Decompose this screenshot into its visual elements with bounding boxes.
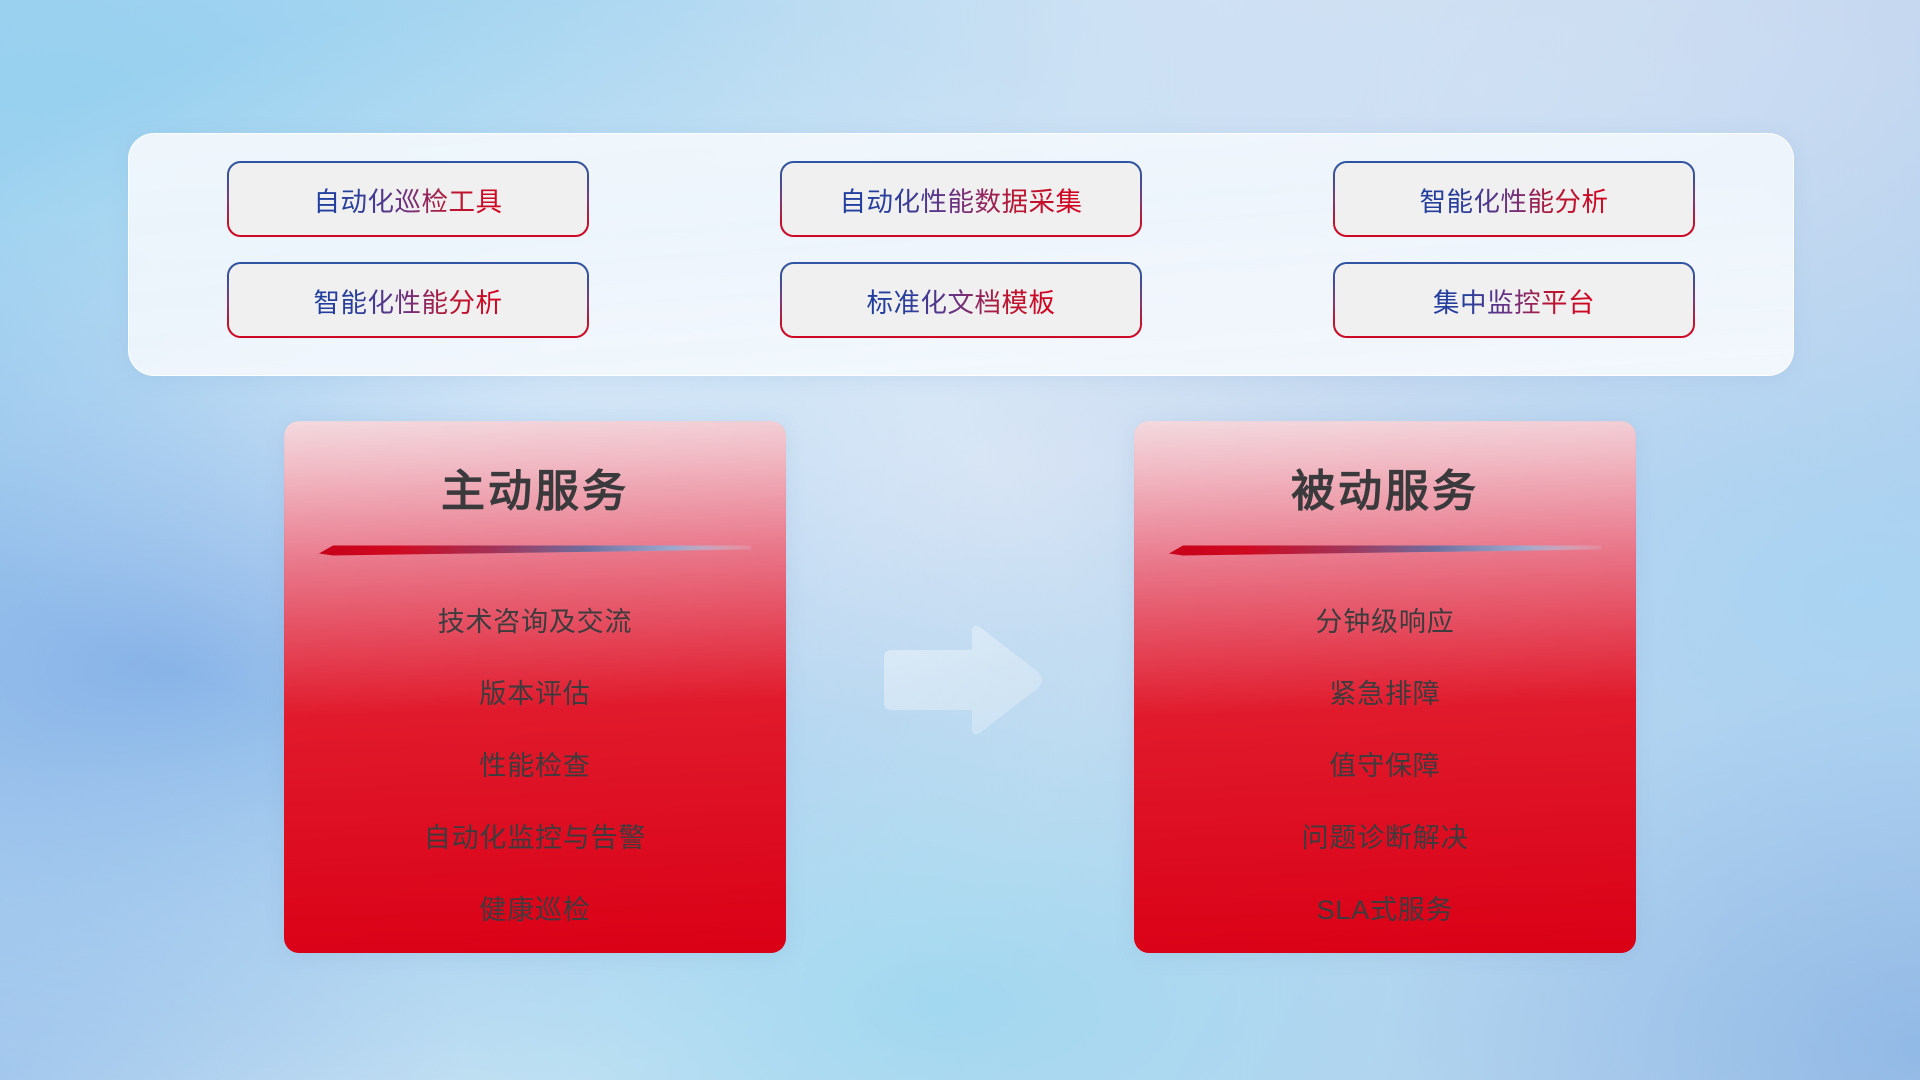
capability-pill-row-1: 自动化巡检工具 自动化性能数据采集 智能化性能分析 — [129, 163, 1793, 235]
service-card-title: 被动服务 — [1135, 455, 1635, 519]
service-item[interactable]: 值守保障 — [1135, 730, 1635, 802]
capability-pill-label: 标准化文档模板 — [867, 281, 1056, 320]
capability-pill[interactable]: 智能化性能分析 — [1335, 163, 1693, 235]
service-item[interactable]: 分钟级响应 — [1135, 586, 1635, 658]
title-divider — [1169, 540, 1601, 558]
capability-pill-label: 智能化性能分析 — [314, 281, 503, 320]
service-item[interactable]: 自动化监控与告警 — [285, 802, 785, 874]
service-item[interactable]: 性能检查 — [285, 730, 785, 802]
service-item[interactable]: 问题诊断解决 — [1135, 802, 1635, 874]
capability-pill[interactable]: 自动化巡检工具 — [229, 163, 587, 235]
service-item-list: 分钟级响应 紧急排障 值守保障 问题诊断解决 SLA式服务 — [1135, 586, 1635, 946]
service-card-reactive: 被动服务 分钟级响应 紧急排障 值守保障 问题诊断解决 SLA式服务 — [1135, 422, 1635, 952]
capability-pill[interactable]: 自动化性能数据采集 — [782, 163, 1140, 235]
title-divider — [319, 540, 751, 558]
service-item[interactable]: 版本评估 — [285, 658, 785, 730]
service-item[interactable]: 健康巡检 — [285, 874, 785, 946]
capability-pill-label: 智能化性能分析 — [1420, 180, 1609, 219]
service-item[interactable]: 紧急排障 — [1135, 658, 1635, 730]
capability-pill-row-2: 智能化性能分析 标准化文档模板 集中监控平台 — [129, 264, 1793, 336]
capability-pill[interactable]: 标准化文档模板 — [782, 264, 1140, 336]
service-card-proactive: 主动服务 技术咨询及交流 版本评估 性能检查 自动化监控与告警 健康巡检 — [285, 422, 785, 952]
service-item-list: 技术咨询及交流 版本评估 性能检查 自动化监控与告警 健康巡检 — [285, 586, 785, 946]
capability-pill-label: 自动化性能数据采集 — [840, 180, 1083, 219]
service-item[interactable]: SLA式服务 — [1135, 874, 1635, 946]
arrow-right-icon — [876, 620, 1046, 740]
capability-pill-label: 自动化巡检工具 — [314, 180, 503, 219]
service-card-title: 主动服务 — [285, 455, 785, 519]
capability-panel: 自动化巡检工具 自动化性能数据采集 智能化性能分析 智能化性能分析 标准化文档模… — [128, 133, 1794, 376]
capability-pill-label: 集中监控平台 — [1433, 281, 1595, 320]
service-item[interactable]: 技术咨询及交流 — [285, 586, 785, 658]
capability-pill[interactable]: 智能化性能分析 — [229, 264, 587, 336]
capability-pill[interactable]: 集中监控平台 — [1335, 264, 1693, 336]
